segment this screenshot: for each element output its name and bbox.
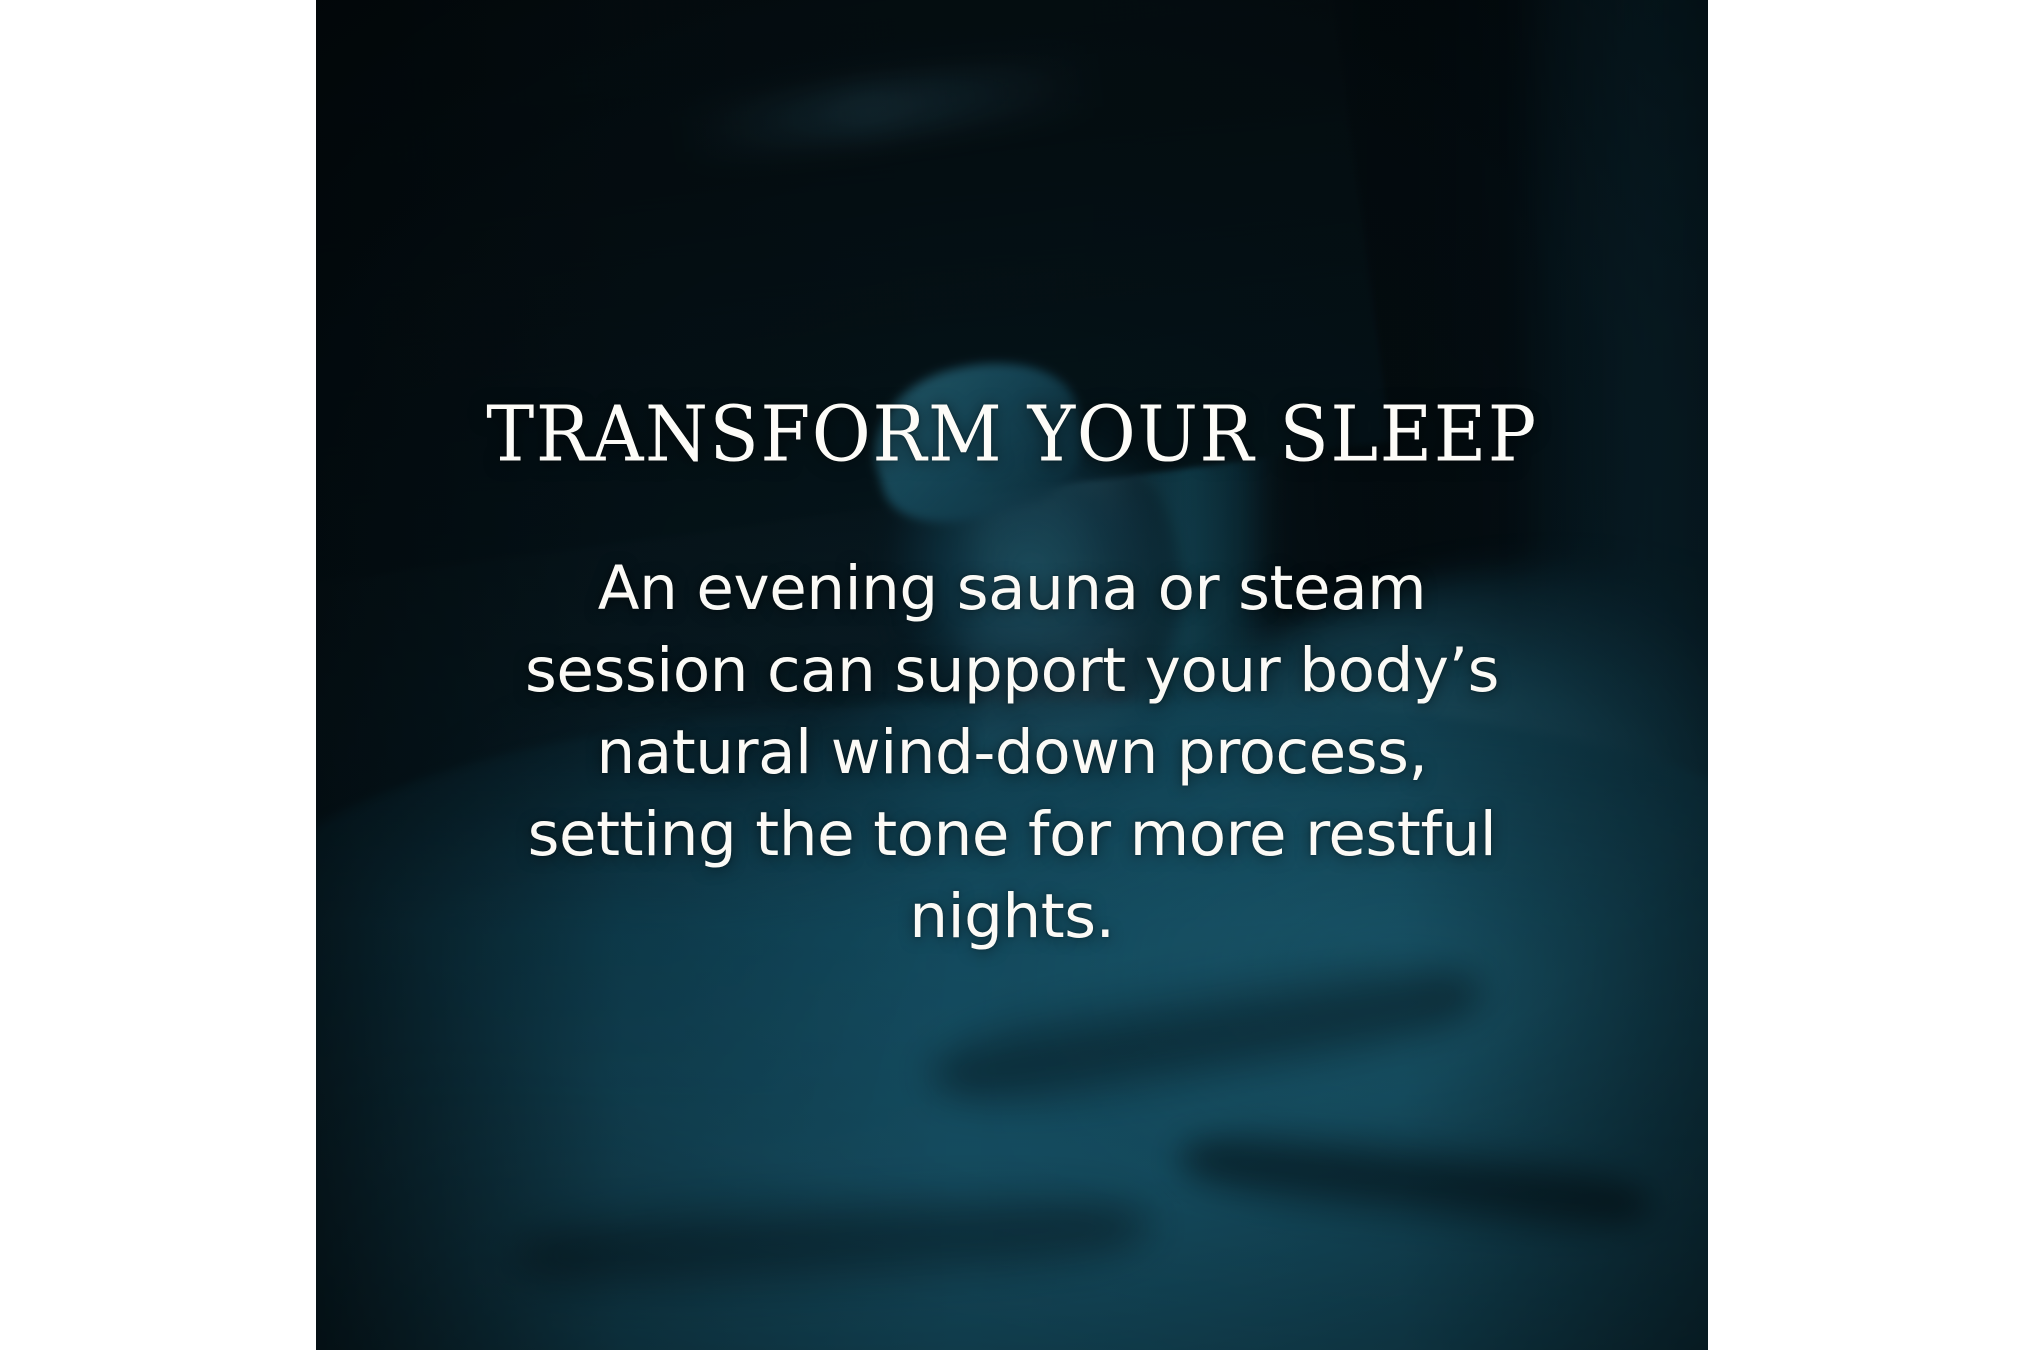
- social-card: TRANSFORM YOUR SLEEP An evening sauna or…: [316, 0, 1708, 1350]
- page-canvas: TRANSFORM YOUR SLEEP An evening sauna or…: [0, 0, 2025, 1350]
- bedroom-photo-background: [316, 0, 1708, 1350]
